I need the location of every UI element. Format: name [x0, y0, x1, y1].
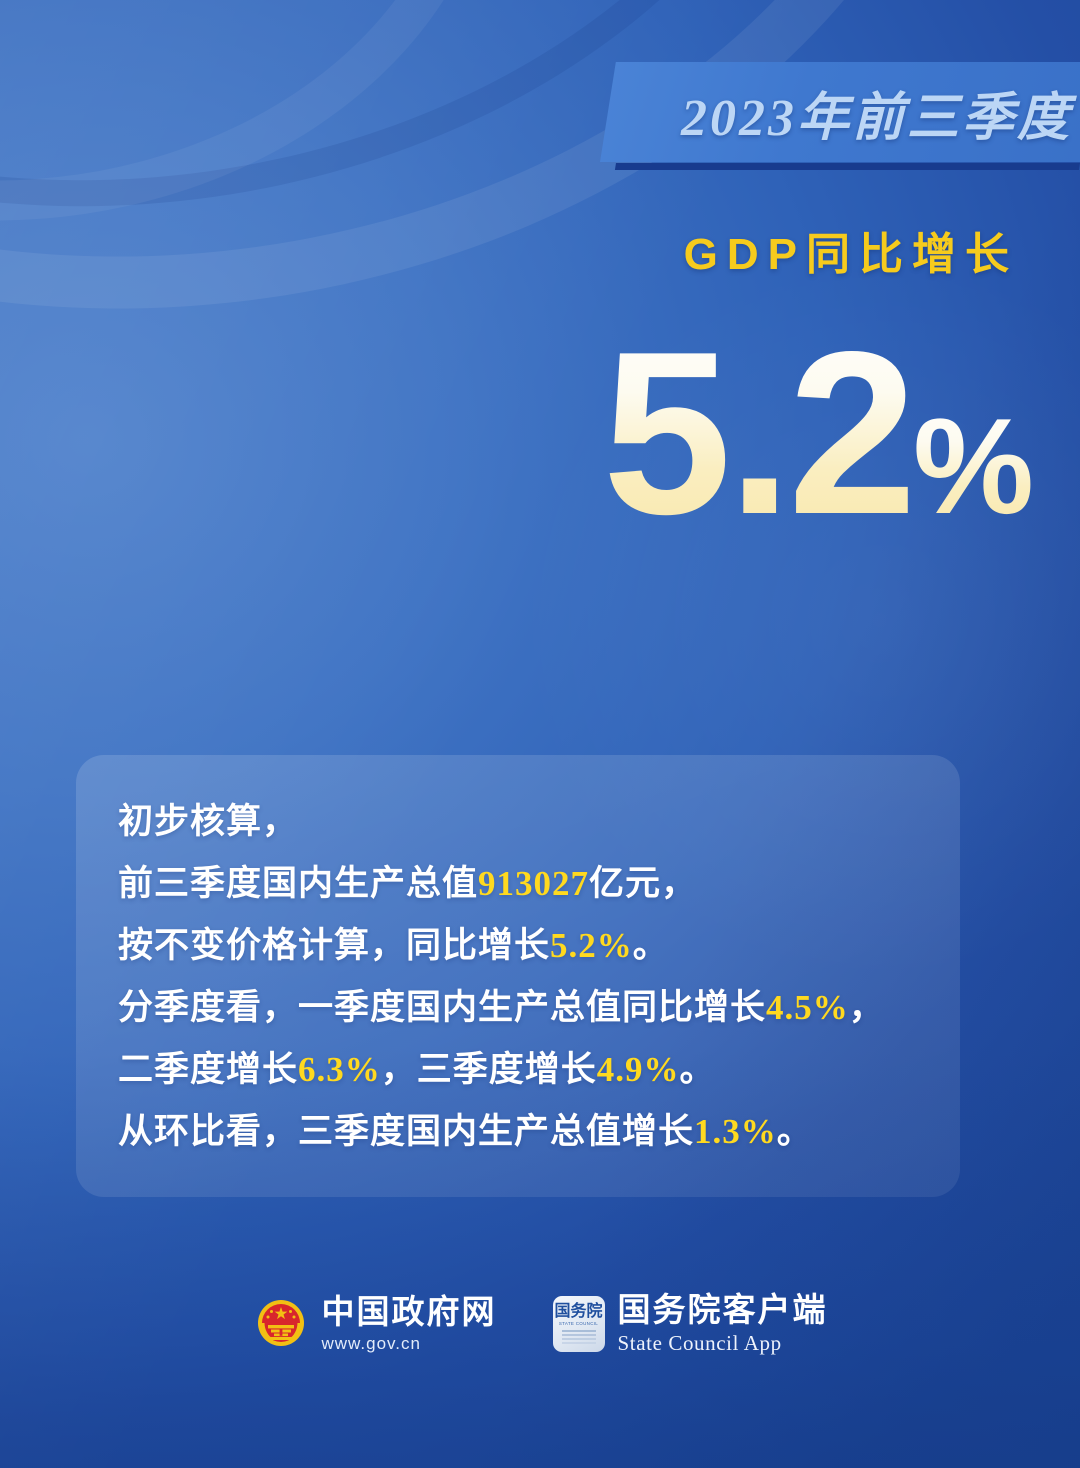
summary-line: 从环比看，三季度国内生产总值增长1.3%。	[118, 1101, 918, 1163]
gov-cn-url: www.gov.cn	[322, 1334, 497, 1354]
gdp-title: GDP同比增长	[684, 218, 1018, 282]
summary-highlight-value: 913027	[478, 864, 589, 903]
infographic-poster: 2023年前三季度 GDP同比增长 5.2% 5.2% 初步核算，前三季度国内生…	[0, 0, 1080, 1468]
state-council-app-name: 国务院客户端	[618, 1292, 828, 1329]
national-emblem-icon	[253, 1296, 309, 1352]
summary-text: 。	[680, 1050, 716, 1089]
summary-highlight-value: 4.5%	[766, 988, 849, 1027]
summary-text: 前三季度国内生产总值	[118, 864, 478, 903]
app-icon-label-cn: 国务院	[554, 1304, 602, 1320]
summary-text: 初步核算，	[118, 802, 298, 841]
summary-highlight-value: 6.3%	[298, 1050, 381, 1089]
summary-text: 。	[633, 926, 669, 965]
summary-line: 前三季度国内生产总值913027亿元，	[118, 853, 918, 915]
footer-logos: 中国政府网 www.gov.cn 国务院 STATE COUNCIL 国务院客户…	[0, 1292, 1080, 1356]
summary-highlight-value: 5.2%	[550, 926, 633, 965]
summary-highlight-value: 4.9%	[597, 1050, 680, 1089]
summary-highlight-value: 1.3%	[694, 1112, 777, 1151]
state-council-app-name-en: State Council App	[618, 1331, 828, 1356]
gov-cn-name: 中国政府网	[322, 1294, 497, 1331]
headline-statistic-unit: %	[913, 390, 1034, 542]
summary-card: 初步核算，前三季度国内生产总值913027亿元，按不变价格计算，同比增长5.2%…	[76, 755, 960, 1197]
summary-line: 分季度看，一季度国内生产总值同比增长4.5%，	[118, 977, 918, 1039]
app-icon-gate-graphic	[562, 1330, 596, 1344]
header-banner: 2023年前三季度	[600, 62, 1080, 170]
summary-text: 二季度增长	[118, 1050, 298, 1089]
summary-card-text: 初步核算，前三季度国内生产总值913027亿元，按不变价格计算，同比增长5.2%…	[118, 791, 918, 1163]
summary-text: ，	[849, 988, 885, 1027]
header-banner-label: 2023年前三季度	[600, 62, 1080, 162]
summary-text: 分季度看，一季度国内生产总值同比增长	[118, 988, 766, 1027]
headline-statistic-value: 5.2	[603, 304, 914, 563]
state-council-app-texts: 国务院客户端 State Council App	[618, 1292, 828, 1356]
state-council-app-logo[interactable]: 国务院 STATE COUNCIL 国务院客户端 State Council A…	[553, 1292, 828, 1356]
summary-text: 亿元，	[589, 864, 697, 903]
summary-text: 。	[777, 1112, 813, 1151]
summary-line: 二季度增长6.3%，三季度增长4.9%。	[118, 1039, 918, 1101]
gov-cn-logo-texts: 中国政府网 www.gov.cn	[322, 1294, 497, 1354]
summary-line: 初步核算，	[118, 791, 918, 853]
state-council-app-icon: 国务院 STATE COUNCIL	[553, 1296, 605, 1352]
gov-cn-logo[interactable]: 中国政府网 www.gov.cn	[253, 1294, 497, 1354]
summary-line: 按不变价格计算，同比增长5.2%。	[118, 915, 918, 977]
headline-statistic: 5.2% 5.2%	[603, 318, 1034, 550]
app-icon-label-en: STATE COUNCIL	[559, 1322, 598, 1327]
summary-text: 按不变价格计算，同比增长	[118, 926, 550, 965]
summary-text: 从环比看，三季度国内生产总值增长	[118, 1112, 694, 1151]
summary-text: ，三季度增长	[381, 1050, 597, 1089]
header-banner-shadow-bar	[615, 163, 1080, 170]
